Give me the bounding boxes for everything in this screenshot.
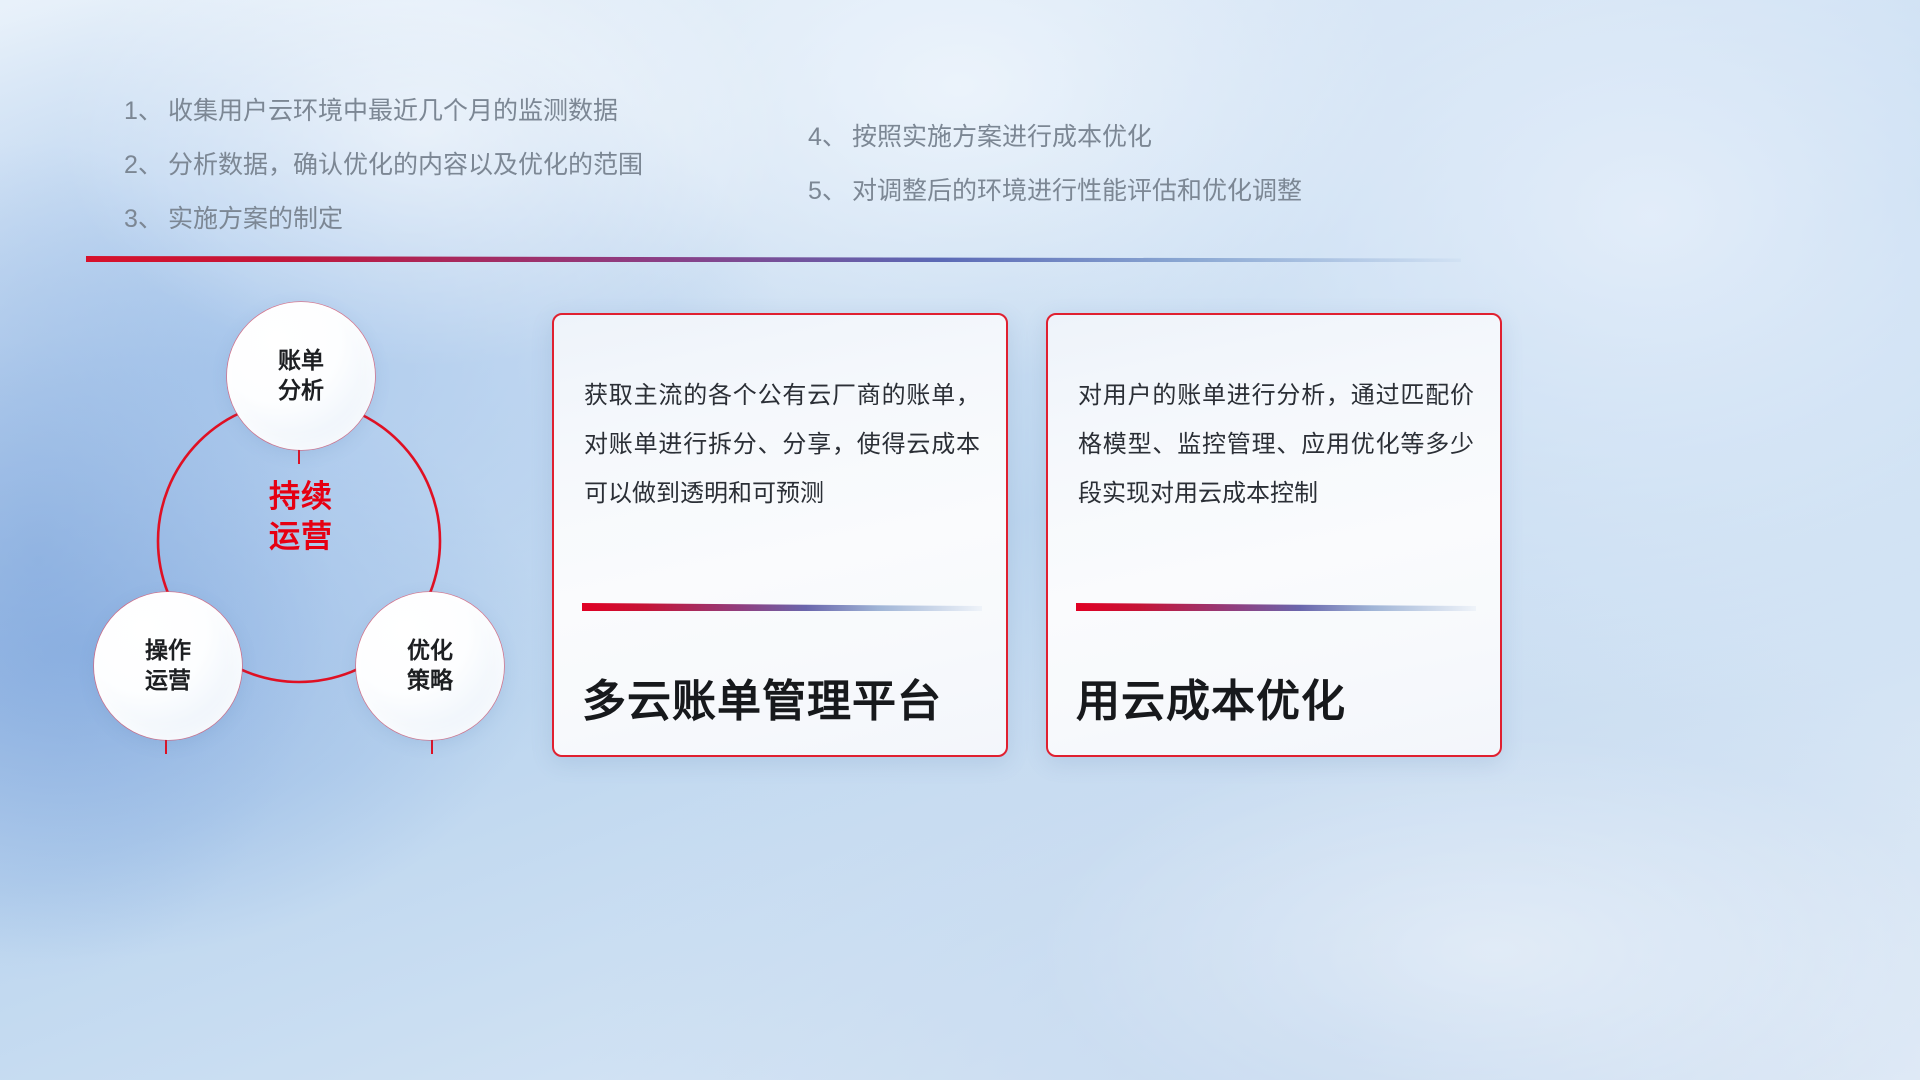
list-item-label: 实施方案的制定 [168, 207, 343, 232]
list-item-number: 4、 [808, 125, 852, 150]
center-label-line2: 运营 [237, 517, 365, 557]
bubble-label-line1: 优化 [407, 636, 453, 666]
bubble-label-line1: 账单 [278, 346, 324, 376]
diagram-center-label: 持续 运营 [237, 477, 365, 556]
slide-stage: 1、 收集用户云环境中最近几个月的监测数据 2、 分析数据，确认优化的内容以及优… [0, 0, 1920, 1080]
list-item: 2、 分析数据，确认优化的内容以及优化的范围 [124, 153, 643, 178]
card-title: 多云账单管理平台 [582, 665, 982, 729]
list-item-label: 按照实施方案进行成本优化 [852, 125, 1152, 150]
section-divider-rule [86, 256, 1461, 262]
bubble-label-line2: 策略 [407, 666, 453, 696]
list-item-label: 分析数据，确认优化的内容以及优化的范围 [168, 153, 643, 178]
process-list-right: 4、 按照实施方案进行成本优化 5、 对调整后的环境进行性能评估和优化调整 [808, 125, 1302, 233]
list-item: 3、 实施方案的制定 [124, 207, 643, 232]
list-item: 4、 按照实施方案进行成本优化 [808, 125, 1302, 150]
bubble-operations[interactable]: 操作 运营 [94, 592, 242, 740]
bubble-label-line2: 运营 [145, 666, 191, 696]
list-item-number: 2、 [124, 153, 168, 178]
continuous-operation-diagram: 账单 分析 操作 运营 优化 策略 持续 运营 [82, 292, 552, 772]
list-item-label: 对调整后的环境进行性能评估和优化调整 [852, 179, 1302, 204]
bubble-label-line2: 分析 [278, 376, 324, 406]
list-item-label: 收集用户云环境中最近几个月的监测数据 [168, 99, 618, 124]
center-label-line1: 持续 [237, 477, 365, 517]
card-body-text: 对用户的账单进行分析，通过匹配价格模型、监控管理、应用优化等多少段实现对用云成本… [1078, 371, 1474, 519]
feature-card-multi-cloud-billing-platform[interactable]: 获取主流的各个公有云厂商的账单，对账单进行拆分、分享，使得云成本可以做到透明和可… [552, 313, 1008, 757]
bubble-optimization-strategy[interactable]: 优化 策略 [356, 592, 504, 740]
feature-card-cloud-cost-optimization[interactable]: 对用户的账单进行分析，通过匹配价格模型、监控管理、应用优化等多少段实现对用云成本… [1046, 313, 1502, 757]
card-body-text: 获取主流的各个公有云厂商的账单，对账单进行拆分、分享，使得云成本可以做到透明和可… [584, 371, 980, 519]
list-item-number: 1、 [124, 99, 168, 124]
list-item: 1、 收集用户云环境中最近几个月的监测数据 [124, 99, 643, 124]
bubble-billing-analysis[interactable]: 账单 分析 [227, 302, 375, 450]
list-item-number: 3、 [124, 207, 168, 232]
card-divider-rule [1076, 603, 1476, 611]
bubble-label-line1: 操作 [145, 636, 191, 666]
list-item-number: 5、 [808, 179, 852, 204]
process-list-left: 1、 收集用户云环境中最近几个月的监测数据 2、 分析数据，确认优化的内容以及优… [124, 99, 643, 261]
card-title: 用云成本优化 [1076, 665, 1476, 729]
card-divider-rule [582, 603, 982, 611]
list-item: 5、 对调整后的环境进行性能评估和优化调整 [808, 179, 1302, 204]
